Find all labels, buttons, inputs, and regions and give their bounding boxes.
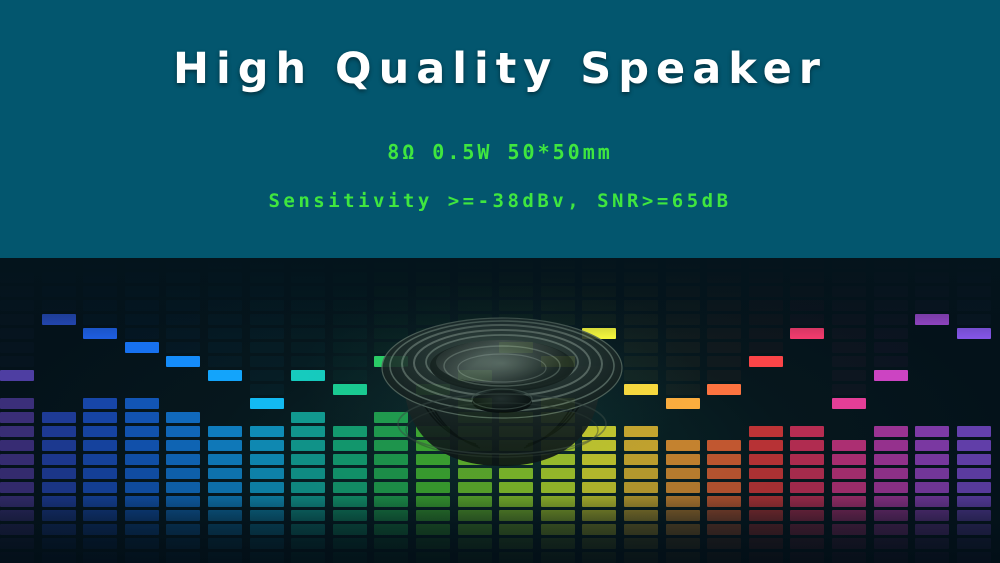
equalizer-segment — [915, 468, 949, 479]
equalizer-segment-unlit — [624, 258, 658, 269]
equalizer-segment-unlit — [0, 314, 34, 325]
equalizer-segment — [374, 496, 408, 507]
equalizer-segment — [624, 524, 658, 535]
equalizer-segment — [416, 496, 450, 507]
equalizer-segment — [707, 440, 741, 451]
equalizer-segment — [291, 496, 325, 507]
equalizer-segment — [42, 426, 76, 437]
equalizer-segment — [499, 454, 533, 465]
equalizer-segment-unlit — [707, 300, 741, 311]
equalizer-column — [666, 258, 700, 563]
equalizer-segment-unlit — [42, 300, 76, 311]
spec-line-impedance-power-size: 8Ω 0.5W 50*50mm — [0, 140, 1000, 164]
equalizer-segment — [957, 510, 991, 521]
header-content: High Quality Speaker 8Ω 0.5W 50*50mm Sen… — [0, 0, 1000, 258]
equalizer-segment — [0, 426, 34, 437]
equalizer-segment — [541, 496, 575, 507]
equalizer-segment — [499, 468, 533, 479]
equalizer-segment-unlit — [582, 258, 616, 269]
equalizer-segment-unlit — [333, 356, 367, 367]
equalizer-segment-unlit — [541, 314, 575, 325]
equalizer-segment — [0, 524, 34, 535]
equalizer-segment-unlit — [749, 356, 783, 367]
equalizer-segment-unlit — [125, 328, 159, 339]
equalizer-segment-unlit — [0, 286, 34, 297]
equalizer-segment-unlit — [915, 286, 949, 297]
equalizer-segment-unlit — [42, 272, 76, 283]
equalizer-segment-unlit — [250, 398, 284, 409]
equalizer-segment-unlit — [166, 272, 200, 283]
equalizer-segment-unlit — [707, 342, 741, 353]
equalizer-segment-unlit — [957, 328, 991, 339]
equalizer-segment-unlit — [458, 356, 492, 367]
equalizer-segment-unlit — [666, 300, 700, 311]
equalizer-segment — [541, 440, 575, 451]
equalizer-segment — [707, 468, 741, 479]
equalizer-segment-unlit — [42, 314, 76, 325]
page-title: High Quality Speaker — [0, 44, 1000, 94]
equalizer-segment — [707, 552, 741, 563]
equalizer-segment — [499, 524, 533, 535]
equalizer-segment-unlit — [666, 370, 700, 381]
equalizer-segment — [125, 524, 159, 535]
equalizer-segment — [624, 440, 658, 451]
equalizer-segment — [957, 440, 991, 451]
equalizer-segment-unlit — [83, 300, 117, 311]
equalizer-segment-unlit — [416, 272, 450, 283]
equalizer-segment — [582, 538, 616, 549]
equalizer-segment-unlit — [666, 398, 700, 409]
equalizer-segment-unlit — [707, 356, 741, 367]
equalizer-segment-unlit — [790, 258, 824, 269]
equalizer-segment — [250, 538, 284, 549]
equalizer-segment — [874, 454, 908, 465]
equalizer-segment — [499, 482, 533, 493]
equalizer-column — [874, 258, 908, 563]
equalizer-segment-unlit — [707, 328, 741, 339]
equalizer-segment — [291, 552, 325, 563]
equalizer-segment-unlit — [125, 300, 159, 311]
equalizer-segment-unlit — [208, 272, 242, 283]
equalizer-segment — [499, 426, 533, 437]
equalizer-segment-unlit — [166, 314, 200, 325]
audio-spectrum-visualizer — [0, 258, 1000, 563]
equalizer-segment — [499, 496, 533, 507]
equalizer-segment — [749, 510, 783, 521]
equalizer-segment-unlit — [915, 258, 949, 269]
equalizer-segment-unlit — [333, 272, 367, 283]
equalizer-segment-unlit — [749, 314, 783, 325]
equalizer-segment-unlit — [749, 300, 783, 311]
equalizer-segment — [666, 468, 700, 479]
equalizer-segment — [208, 552, 242, 563]
equalizer-segment — [42, 454, 76, 465]
equalizer-segment-unlit — [166, 342, 200, 353]
equalizer-segment — [666, 482, 700, 493]
equalizer-segment — [166, 426, 200, 437]
equalizer-segment-unlit — [832, 328, 866, 339]
equalizer-segment — [541, 412, 575, 423]
equalizer-column — [333, 258, 367, 563]
equalizer-segment-unlit — [208, 342, 242, 353]
equalizer-segment — [208, 482, 242, 493]
equalizer-segment — [749, 496, 783, 507]
equalizer-segment-unlit — [333, 384, 367, 395]
equalizer-segment — [42, 482, 76, 493]
equalizer-column — [499, 258, 533, 563]
equalizer-segment — [333, 426, 367, 437]
equalizer-segment-unlit — [125, 258, 159, 269]
equalizer-segment — [541, 524, 575, 535]
equalizer-bars — [0, 258, 1000, 563]
equalizer-segment — [42, 468, 76, 479]
equalizer-segment-unlit — [416, 384, 450, 395]
equalizer-segment-unlit — [666, 384, 700, 395]
equalizer-column — [42, 258, 76, 563]
equalizer-segment — [582, 454, 616, 465]
equalizer-segment — [874, 524, 908, 535]
equalizer-segment-unlit — [915, 300, 949, 311]
equalizer-segment — [957, 552, 991, 563]
equalizer-segment-unlit — [0, 328, 34, 339]
equalizer-segment — [0, 468, 34, 479]
equalizer-segment — [125, 440, 159, 451]
equalizer-segment — [458, 398, 492, 409]
equalizer-segment-unlit — [374, 258, 408, 269]
equalizer-segment-unlit — [250, 314, 284, 325]
equalizer-segment — [291, 440, 325, 451]
equalizer-segment-unlit — [458, 314, 492, 325]
equalizer-segment — [333, 510, 367, 521]
equalizer-segment — [666, 454, 700, 465]
equalizer-segment-unlit — [499, 300, 533, 311]
equalizer-segment — [624, 468, 658, 479]
equalizer-segment — [208, 510, 242, 521]
equalizer-segment — [0, 440, 34, 451]
equalizer-segment — [0, 412, 34, 423]
equalizer-segment-unlit — [458, 272, 492, 283]
equalizer-segment — [582, 524, 616, 535]
equalizer-segment — [666, 538, 700, 549]
equalizer-segment — [499, 538, 533, 549]
equalizer-segment-unlit — [333, 314, 367, 325]
equalizer-segment-unlit — [874, 300, 908, 311]
equalizer-segment — [874, 440, 908, 451]
equalizer-segment — [832, 510, 866, 521]
equalizer-column — [166, 258, 200, 563]
equalizer-segment-unlit — [707, 314, 741, 325]
equalizer-segment-unlit — [790, 286, 824, 297]
equalizer-segment — [374, 510, 408, 521]
equalizer-segment-unlit — [333, 286, 367, 297]
equalizer-segment-unlit — [874, 272, 908, 283]
equalizer-column — [250, 258, 284, 563]
equalizer-segment — [291, 538, 325, 549]
equalizer-segment — [832, 454, 866, 465]
equalizer-segment — [125, 552, 159, 563]
equalizer-segment-unlit — [499, 272, 533, 283]
equalizer-segment — [458, 440, 492, 451]
equalizer-segment — [42, 510, 76, 521]
equalizer-segment-unlit — [416, 356, 450, 367]
equalizer-segment-unlit — [83, 286, 117, 297]
equalizer-segment-unlit — [208, 356, 242, 367]
equalizer-segment — [250, 496, 284, 507]
equalizer-segment — [832, 552, 866, 563]
equalizer-segment — [291, 426, 325, 437]
equalizer-segment — [749, 454, 783, 465]
equalizer-segment — [416, 468, 450, 479]
equalizer-segment — [832, 468, 866, 479]
equalizer-segment-unlit — [832, 370, 866, 381]
equalizer-segment-unlit — [0, 300, 34, 311]
equalizer-segment-unlit — [499, 328, 533, 339]
equalizer-segment — [707, 510, 741, 521]
equalizer-segment — [166, 412, 200, 423]
equalizer-segment — [166, 552, 200, 563]
equalizer-segment-unlit — [624, 342, 658, 353]
equalizer-segment — [832, 440, 866, 451]
equalizer-segment-unlit — [166, 328, 200, 339]
equalizer-segment-unlit — [416, 258, 450, 269]
equalizer-segment-unlit — [250, 272, 284, 283]
equalizer-segment-unlit — [499, 314, 533, 325]
equalizer-segment — [83, 440, 117, 451]
equalizer-segment — [208, 496, 242, 507]
equalizer-segment — [0, 538, 34, 549]
equalizer-segment — [541, 398, 575, 409]
equalizer-segment-unlit — [957, 258, 991, 269]
equalizer-segment — [832, 496, 866, 507]
equalizer-segment-unlit — [416, 370, 450, 381]
equalizer-segment-unlit — [458, 300, 492, 311]
equalizer-segment — [915, 510, 949, 521]
equalizer-segment — [707, 524, 741, 535]
equalizer-segment — [957, 482, 991, 493]
equalizer-segment-unlit — [707, 286, 741, 297]
equalizer-segment — [874, 468, 908, 479]
equalizer-segment — [125, 454, 159, 465]
equalizer-segment — [541, 468, 575, 479]
equalizer-segment-unlit — [582, 272, 616, 283]
equalizer-segment-unlit — [291, 370, 325, 381]
equalizer-segment-unlit — [624, 370, 658, 381]
equalizer-segment — [749, 482, 783, 493]
equalizer-segment — [374, 440, 408, 451]
equalizer-column — [707, 258, 741, 563]
equalizer-segment — [624, 496, 658, 507]
equalizer-segment — [333, 440, 367, 451]
equalizer-segment-unlit — [83, 272, 117, 283]
equalizer-segment-unlit — [832, 258, 866, 269]
equalizer-segment — [458, 496, 492, 507]
equalizer-column — [83, 258, 117, 563]
equalizer-segment-unlit — [666, 286, 700, 297]
header-band: High Quality Speaker 8Ω 0.5W 50*50mm Sen… — [0, 0, 1000, 258]
equalizer-segment-unlit — [582, 300, 616, 311]
equalizer-segment — [832, 538, 866, 549]
equalizer-segment-unlit — [624, 356, 658, 367]
equalizer-segment-unlit — [749, 286, 783, 297]
equalizer-segment — [624, 538, 658, 549]
equalizer-segment-unlit — [624, 384, 658, 395]
equalizer-segment — [957, 538, 991, 549]
equalizer-segment — [458, 426, 492, 437]
equalizer-segment-unlit — [541, 272, 575, 283]
equalizer-segment — [83, 510, 117, 521]
equalizer-segment — [291, 524, 325, 535]
equalizer-segment-unlit — [333, 300, 367, 311]
equalizer-segment-unlit — [499, 258, 533, 269]
equalizer-segment — [957, 426, 991, 437]
equalizer-segment-unlit — [624, 300, 658, 311]
equalizer-segment — [915, 552, 949, 563]
equalizer-segment — [125, 398, 159, 409]
equalizer-segment — [0, 510, 34, 521]
equalizer-segment-unlit — [582, 314, 616, 325]
equalizer-segment — [749, 426, 783, 437]
equalizer-segment — [250, 482, 284, 493]
equalizer-segment — [832, 524, 866, 535]
equalizer-segment — [458, 468, 492, 479]
equalizer-segment — [125, 482, 159, 493]
equalizer-segment-unlit — [374, 342, 408, 353]
equalizer-segment-unlit — [541, 300, 575, 311]
equalizer-segment — [291, 468, 325, 479]
equalizer-segment-unlit — [416, 328, 450, 339]
equalizer-segment — [333, 482, 367, 493]
equalizer-segment-unlit — [250, 258, 284, 269]
equalizer-segment — [166, 510, 200, 521]
equalizer-segment — [374, 426, 408, 437]
equalizer-segment — [582, 510, 616, 521]
equalizer-segment — [624, 552, 658, 563]
equalizer-segment — [541, 454, 575, 465]
equalizer-segment — [458, 538, 492, 549]
equalizer-segment-unlit — [125, 286, 159, 297]
equalizer-segment-unlit — [166, 286, 200, 297]
equalizer-segment-unlit — [874, 328, 908, 339]
equalizer-segment — [666, 510, 700, 521]
equalizer-segment — [83, 524, 117, 535]
equalizer-segment-unlit — [874, 286, 908, 297]
equalizer-segment-unlit — [0, 356, 34, 367]
equalizer-segment-unlit — [832, 384, 866, 395]
equalizer-segment — [374, 468, 408, 479]
equalizer-segment — [166, 454, 200, 465]
equalizer-segment-unlit — [832, 286, 866, 297]
equalizer-segment-unlit — [208, 314, 242, 325]
equalizer-segment — [291, 454, 325, 465]
equalizer-segment-unlit — [125, 342, 159, 353]
equalizer-segment-unlit — [250, 342, 284, 353]
equalizer-segment — [416, 538, 450, 549]
equalizer-segment-unlit — [790, 300, 824, 311]
equalizer-segment — [541, 538, 575, 549]
equalizer-segment — [915, 426, 949, 437]
equalizer-segment-unlit — [291, 314, 325, 325]
equalizer-segment-unlit — [333, 342, 367, 353]
equalizer-segment — [416, 510, 450, 521]
equalizer-segment — [166, 538, 200, 549]
equalizer-segment-unlit — [666, 328, 700, 339]
equalizer-segment — [166, 496, 200, 507]
equalizer-segment-unlit — [83, 314, 117, 325]
equalizer-segment-unlit — [416, 314, 450, 325]
equalizer-segment — [83, 538, 117, 549]
equalizer-column — [790, 258, 824, 563]
equalizer-column — [915, 258, 949, 563]
equalizer-segment-unlit — [707, 258, 741, 269]
equalizer-segment — [83, 496, 117, 507]
equalizer-segment-unlit — [250, 328, 284, 339]
equalizer-segment-unlit — [832, 398, 866, 409]
equalizer-segment — [874, 510, 908, 521]
equalizer-segment — [333, 468, 367, 479]
equalizer-column — [208, 258, 242, 563]
equalizer-segment-unlit — [874, 370, 908, 381]
equalizer-segment — [416, 440, 450, 451]
equalizer-segment — [208, 426, 242, 437]
equalizer-segment-unlit — [666, 258, 700, 269]
equalizer-segment — [957, 524, 991, 535]
equalizer-segment-unlit — [208, 258, 242, 269]
equalizer-segment-unlit — [416, 300, 450, 311]
equalizer-segment — [166, 468, 200, 479]
equalizer-segment — [790, 468, 824, 479]
equalizer-segment-unlit — [874, 314, 908, 325]
equalizer-segment — [250, 440, 284, 451]
equalizer-segment-unlit — [208, 328, 242, 339]
equalizer-segment — [499, 412, 533, 423]
equalizer-segment — [208, 440, 242, 451]
equalizer-segment — [250, 454, 284, 465]
equalizer-segment — [291, 510, 325, 521]
equalizer-segment — [790, 440, 824, 451]
equalizer-column — [374, 258, 408, 563]
equalizer-column — [582, 258, 616, 563]
equalizer-segment — [790, 524, 824, 535]
equalizer-segment-unlit — [874, 356, 908, 367]
equalizer-segment — [957, 454, 991, 465]
equalizer-segment — [291, 412, 325, 423]
equalizer-segment-unlit — [83, 258, 117, 269]
equalizer-column — [416, 258, 450, 563]
equalizer-segment-unlit — [333, 328, 367, 339]
equalizer-segment — [458, 524, 492, 535]
equalizer-segment-unlit — [666, 342, 700, 353]
equalizer-segment — [125, 510, 159, 521]
equalizer-segment — [166, 524, 200, 535]
equalizer-segment-unlit — [624, 314, 658, 325]
equalizer-segment-unlit — [915, 314, 949, 325]
equalizer-segment — [957, 496, 991, 507]
equalizer-segment-unlit — [624, 328, 658, 339]
equalizer-segment — [499, 552, 533, 563]
equalizer-segment-unlit — [83, 328, 117, 339]
equalizer-segment — [291, 482, 325, 493]
equalizer-segment-unlit — [0, 370, 34, 381]
equalizer-column — [624, 258, 658, 563]
equalizer-segment — [333, 454, 367, 465]
equalizer-segment-unlit — [666, 314, 700, 325]
equalizer-segment — [790, 552, 824, 563]
equalizer-segment — [0, 552, 34, 563]
equalizer-segment — [333, 538, 367, 549]
equalizer-segment — [416, 482, 450, 493]
equalizer-segment-unlit — [374, 314, 408, 325]
equalizer-segment-unlit — [333, 258, 367, 269]
